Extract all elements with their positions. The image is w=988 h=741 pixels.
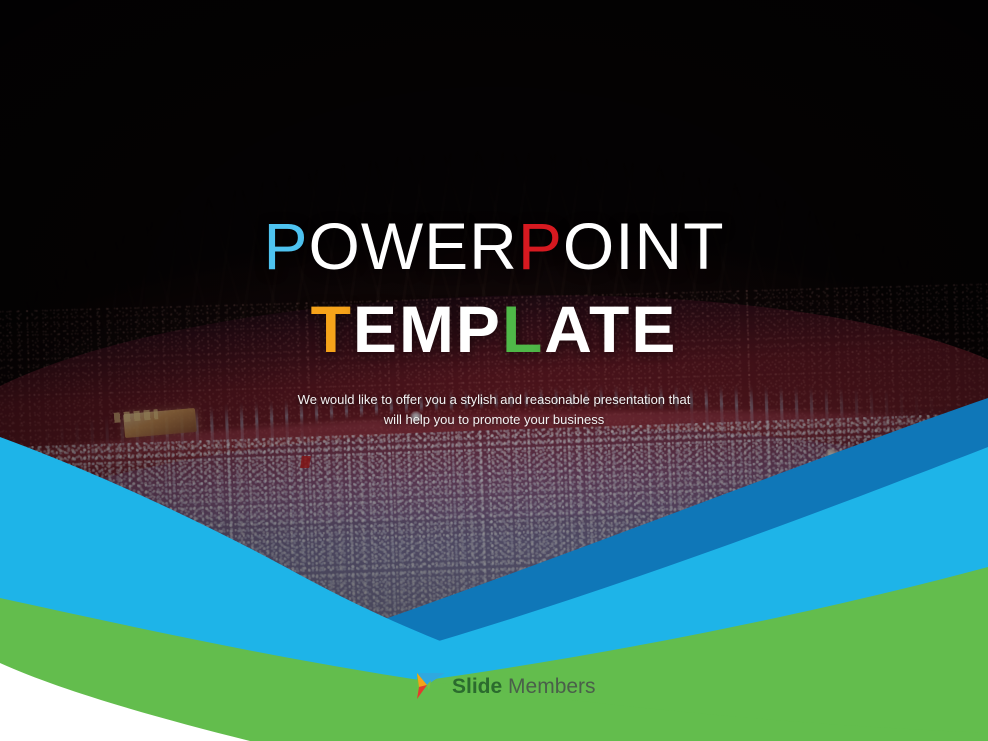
slidemembers-arrow-icon: [417, 671, 445, 701]
title-char-t2: T: [589, 292, 631, 366]
logo-name-bold: Slide: [452, 675, 502, 698]
title-char-i: I: [615, 209, 634, 283]
title-char-e: E: [424, 209, 469, 283]
title-char-o: O: [308, 209, 360, 283]
presentation-slide: POWERPOINT TEMPLATE We would like to off…: [0, 0, 988, 741]
title-char-p-blue: P: [263, 209, 308, 283]
title-char-e3: E: [353, 292, 399, 366]
title-char-t: T: [683, 209, 724, 283]
title-block: POWERPOINT TEMPLATE: [0, 212, 988, 365]
title-char-n: N: [635, 209, 684, 283]
title-char-a: A: [544, 292, 589, 366]
title-char-p2: P: [456, 292, 502, 366]
title-line-template: TEMPLATE: [0, 295, 988, 364]
stadium-photo: [0, 0, 988, 741]
title-char-r: R: [469, 209, 518, 283]
title-char-t-orange: T: [311, 292, 353, 366]
title-char-p-red: P: [518, 209, 563, 283]
subtitle: We would like to offer you a stylish and…: [0, 390, 988, 429]
logo-name-light: Members: [508, 675, 596, 698]
slide-members-logo[interactable]: Slide Members: [417, 671, 596, 701]
title-char-l-green: L: [502, 292, 544, 366]
title-char-e4: E: [631, 292, 677, 366]
photo-vignette: [0, 0, 988, 741]
subtitle-line-1: We would like to offer you a stylish and…: [0, 390, 988, 410]
title-char-m: M: [399, 292, 456, 366]
title-char-o2: O: [563, 209, 615, 283]
title-char-w: W: [361, 209, 424, 283]
subtitle-line-2: will help you to promote your business: [0, 410, 988, 430]
logo-text: Slide Members: [452, 676, 596, 697]
title-line-powerpoint: POWERPOINT: [0, 212, 988, 281]
